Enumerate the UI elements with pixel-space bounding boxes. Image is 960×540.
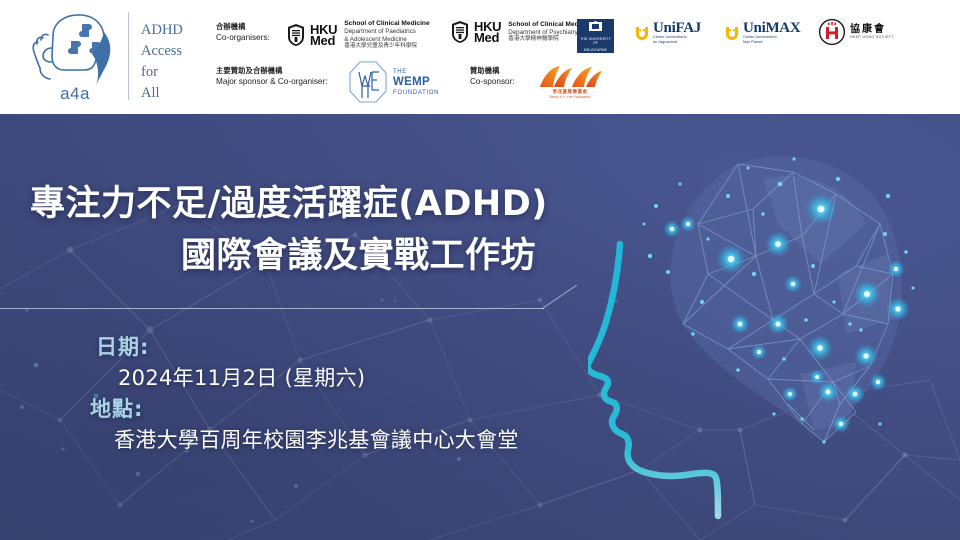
event-date-value: 2024年11月2日 (星期六) bbox=[0, 362, 580, 394]
hku-brand-line2: Med bbox=[310, 35, 337, 47]
event-venue-label: 地點: bbox=[0, 394, 580, 424]
title-line-1: 專注力不足/過度活躍症(ADHD) bbox=[0, 178, 560, 230]
hku-brand-line2: Med bbox=[474, 32, 501, 44]
simon-lee-caption: 李兆基慈善基金 Simon K.Y. Lee Foundation bbox=[534, 89, 606, 99]
heep-hong-en: HEEP HONG SOCIETY bbox=[850, 35, 894, 40]
melbourne-crest-icon bbox=[588, 20, 603, 35]
event-date-label: 日期: bbox=[0, 332, 580, 362]
hku-med-psychiatry-logo: HKU Med School of Clinical Medicine Depa… bbox=[450, 20, 594, 44]
hku-med-paediatrics-logo: HKU Med School of Clinical Medicine Depa… bbox=[286, 20, 430, 51]
title-divider-rule bbox=[0, 308, 544, 309]
tagline-line-2: Access bbox=[141, 41, 205, 62]
coorganisers-label-en: Co-organisers: bbox=[216, 32, 270, 43]
hku-crest-icon bbox=[450, 20, 470, 44]
title-divider-diagonal bbox=[543, 285, 579, 309]
wemp-line1: THE bbox=[393, 68, 439, 76]
conference-poster: a4a ADHD Access for All 合辦機構 Co-organise… bbox=[0, 0, 960, 540]
cosponsor-label: 贊助機構 Co-sponsor: bbox=[470, 66, 515, 87]
melbourne-line1: THE UNIVERSITY OF bbox=[577, 37, 614, 45]
wemp-emblem-icon bbox=[348, 60, 388, 104]
unimax-smile-icon bbox=[724, 25, 740, 41]
coorganisers-label: 合辦機構 Co-organisers: bbox=[216, 22, 270, 43]
simon-lee-mark-icon bbox=[534, 63, 606, 89]
unifaj-name: UniFAJ bbox=[653, 21, 701, 35]
hku-paed-department: School of Clinical Medicine Department o… bbox=[344, 20, 429, 51]
major-sponsor-label-zh: 主要贊助及合辦機構 bbox=[216, 66, 328, 76]
a4a-wordmark: a4a bbox=[26, 84, 124, 104]
wemp-line3: FOUNDATION bbox=[393, 89, 439, 97]
heep-hong-society-logo: 協康會 HEEP HONG SOCIETY bbox=[818, 18, 894, 46]
event-venue-row: 地點: 香港大學百周年校園李兆基會議中心大會堂 bbox=[0, 394, 580, 456]
unimax-logo: UniMAX Centro Universitário Max Planck bbox=[724, 21, 800, 44]
unifaj-logo: UniFAJ Centro Universitário de Jaguariún… bbox=[634, 21, 701, 44]
cosponsor-label-en: Co-sponsor: bbox=[470, 76, 515, 87]
coorganisers-label-zh: 合辦機構 bbox=[216, 22, 270, 32]
hku-med-wordmark: HKU Med bbox=[310, 24, 337, 47]
event-venue-value: 香港大學百周年校園李兆基會議中心大會堂 bbox=[0, 424, 580, 456]
simon-lee-en: Simon K.Y. Lee Foundation bbox=[534, 95, 606, 99]
a4a-tagline: ADHD Access for All bbox=[141, 20, 205, 104]
hku-paed-dept-zh: 香港大學兒童及青少年科學院 bbox=[344, 43, 429, 50]
event-date-row: 日期: 2024年11月2日 (星期六) bbox=[0, 332, 580, 394]
heep-hong-wordmark: 協康會 HEEP HONG SOCIETY bbox=[850, 24, 894, 40]
heep-hong-zh: 協康會 bbox=[850, 24, 894, 35]
hku-paed-school: School of Clinical Medicine bbox=[344, 20, 429, 28]
wemp-line2: WEMP bbox=[393, 76, 439, 89]
unifaj-sub2: de Jaguariúna bbox=[653, 40, 701, 45]
title-line-2: 國際會議及實戰工作坊 bbox=[0, 230, 560, 282]
simon-lee-foundation-logo: 李兆基慈善基金 Simon K.Y. Lee Foundation bbox=[534, 63, 606, 101]
tagline-line-4: All bbox=[141, 83, 205, 104]
heep-hong-emblem-icon bbox=[818, 18, 846, 46]
university-of-melbourne-logo: THE UNIVERSITY OF MELBOURNE bbox=[577, 19, 614, 53]
major-sponsor-label-en: Major sponsor & Co-organiser: bbox=[216, 76, 328, 87]
unimax-name: UniMAX bbox=[743, 21, 800, 35]
hku-crest-icon bbox=[286, 23, 306, 47]
major-sponsor-label: 主要贊助及合辦機構 Major sponsor & Co-organiser: bbox=[216, 66, 328, 87]
brain-network-artwork bbox=[588, 124, 960, 540]
sponsor-header-bar: a4a ADHD Access for All 合辦機構 Co-organise… bbox=[0, 0, 960, 114]
hku-med-wordmark: HKU Med bbox=[474, 21, 501, 44]
melbourne-line2: MELBOURNE bbox=[584, 48, 607, 52]
event-details: 日期: 2024年11月2日 (星期六) 地點: 香港大學百周年校園李兆基會議中… bbox=[0, 332, 580, 456]
poster-title: 專注力不足/過度活躍症(ADHD) 國際會議及實戰工作坊 bbox=[0, 178, 560, 282]
hku-paed-dept1: Department of Paediatrics bbox=[344, 28, 429, 36]
unifaj-smile-icon bbox=[634, 25, 650, 41]
wemp-foundation-logo: THE WEMP FOUNDATION bbox=[348, 60, 439, 104]
cosponsor-label-zh: 贊助機構 bbox=[470, 66, 515, 76]
wemp-wordmark: THE WEMP FOUNDATION bbox=[393, 68, 439, 97]
a4a-logo: a4a bbox=[26, 8, 124, 106]
unimax-sub2: Max Planck bbox=[743, 40, 800, 45]
tagline-line-1: ADHD bbox=[141, 20, 205, 41]
header-divider bbox=[128, 12, 129, 100]
tagline-line-3: for bbox=[141, 62, 205, 83]
